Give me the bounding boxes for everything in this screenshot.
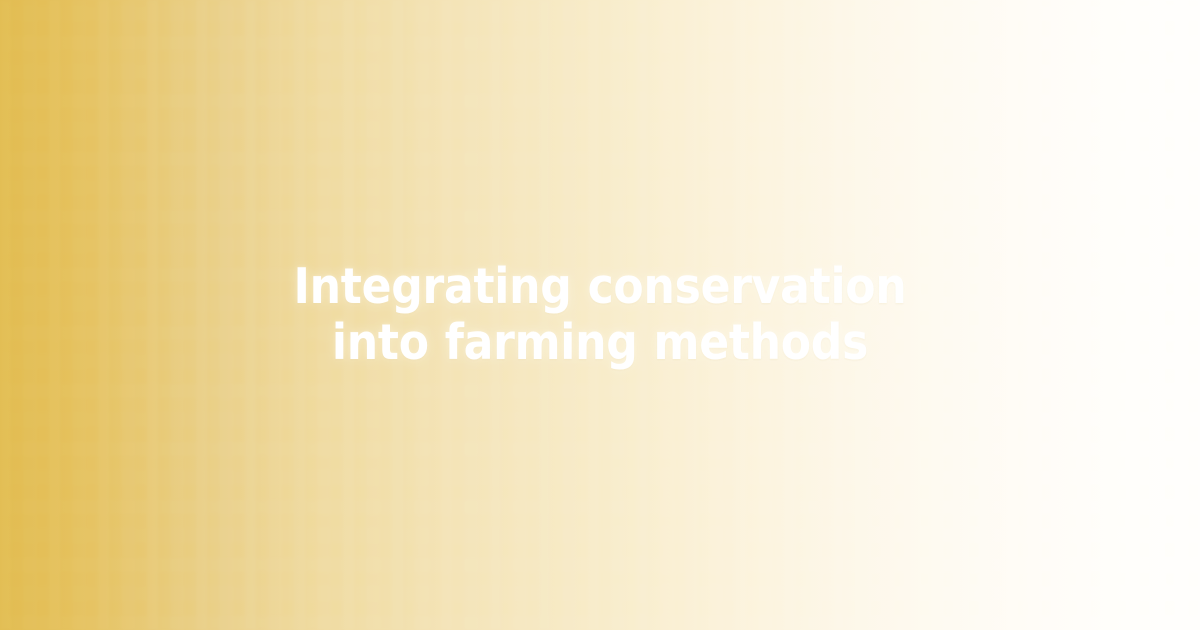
- banner-card: Integrating conservation into farming me…: [0, 0, 1200, 630]
- banner-title: Integrating conservation into farming me…: [258, 259, 942, 371]
- title-block: Integrating conservation into farming me…: [0, 0, 1200, 630]
